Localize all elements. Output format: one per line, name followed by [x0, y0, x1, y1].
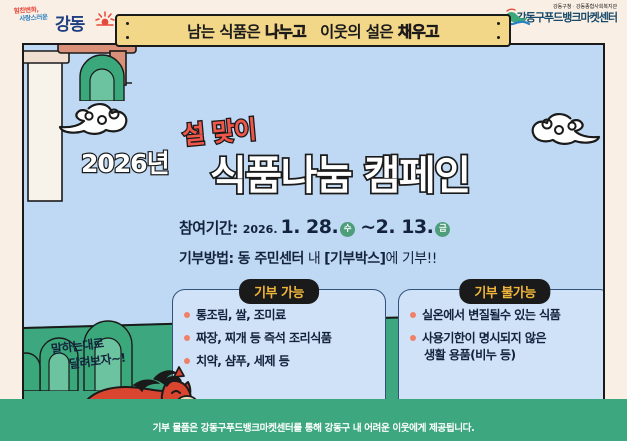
- method-tail: 에 기부: [385, 251, 426, 267]
- page-title-seasonal: 설 맞이: [181, 110, 258, 152]
- list-item: 치약, 샴푸, 세제 등: [183, 354, 377, 368]
- list-item-line1: 실온에서 변질될수 있는 식품: [422, 308, 560, 322]
- korean-cloud-icon: [58, 101, 146, 141]
- list-item: 실온에서 변질될수 있는 식품: [409, 308, 603, 322]
- period-label: 참여기간:: [179, 217, 238, 238]
- period-range-mark: ~: [360, 216, 375, 238]
- running-horse-illustration: [54, 363, 204, 399]
- korean-cloud-icon: [521, 111, 605, 151]
- footer-note: 기부 물품은 강동구푸드뱅크마켓센터를 통해 강동구 내 어려운 이웃에게 제공…: [0, 420, 627, 434]
- campaign-ribbon-banner: 남는 식품은 나누고이웃의 설은 채우고: [115, 14, 511, 47]
- period-end: 2. 13.: [376, 216, 434, 238]
- logo-slogan-line2: 사랑스러운: [19, 13, 48, 23]
- period-start: 1. 28.: [281, 216, 339, 238]
- ribbon-part2: 이웃의 설은: [320, 23, 398, 41]
- green-bush-illustration: [72, 51, 152, 101]
- sun-rays-icon: [95, 11, 115, 27]
- gangdong-district-logo: 힘찬변화, 사랑스러운 강동: [12, 4, 120, 40]
- page-title-main: 식품나눔 캠페인: [210, 143, 470, 201]
- foodbank-center-logo: 강동구청ㆍ강동종합사회복지관 강동구푸드뱅크마켓센터: [501, 3, 619, 37]
- period-year: 2026.: [243, 223, 278, 236]
- allowed-list: 통조림, 쌀, 조미료 짜장, 찌개 등 즉석 조리식품 치약, 샴푸, 세제 …: [183, 308, 377, 368]
- list-item: 짜장, 찌개 등 즉석 조리식품: [183, 331, 377, 345]
- period-end-day-badge: 금: [435, 222, 450, 237]
- status-badge-allowed: 기부 가능: [239, 279, 319, 304]
- page-title-year: 2026년: [81, 144, 169, 180]
- sky-panel: 2026년 설 맞이 식품나눔 캠페인 참여기간: 2026. 1. 28. 수…: [22, 43, 605, 399]
- ribbon-highlight2: 채우고: [398, 23, 439, 41]
- list-item-line1: 짜장, 찌개 등 즉석 조리식품: [196, 331, 331, 345]
- method-place: 동 주민센터: [238, 251, 304, 267]
- not-allowed-list: 실온에서 변질될수 있는 식품 사용기한이 명시되지 않은 생활 용품(비누 등…: [409, 308, 603, 362]
- list-item-line2: 생활 용품(비누 등): [422, 348, 603, 362]
- donation-not-allowed-box: 기부 불가능 실온에서 변질될수 있는 식품 사용기한이 명시되지 않은 생활 …: [398, 289, 605, 399]
- ribbon-highlight1: 나누고: [265, 23, 306, 41]
- logo-slogan: 힘찬변화, 사랑스러운: [13, 5, 47, 23]
- ribbon-part1: 남는 식품은: [187, 23, 265, 41]
- status-badge-not-allowed: 기부 불가능: [459, 279, 550, 304]
- ribbon-dots-left: [126, 22, 129, 39]
- logo-wordmark: 강동: [55, 10, 84, 35]
- list-item-line1: 사용기한이 명시되지 않은: [422, 331, 546, 345]
- list-item-line1: 치약, 샴푸, 세제 등: [196, 354, 289, 368]
- poster-root: 2026년 설 맞이 식품나눔 캠페인 참여기간: 2026. 1. 28. 수…: [0, 0, 627, 441]
- info-box-group: 기부 가능 통조림, 쌀, 조미료 짜장, 찌개 등 즉석 조리식품 치약, 샴…: [172, 289, 605, 399]
- method-label: 기부방법:: [179, 251, 234, 267]
- ribbon-dots-right: [497, 22, 500, 39]
- donation-allowed-box: 기부 가능 통조림, 쌀, 조미료 짜장, 찌개 등 즉석 조리식품 치약, 샴…: [172, 289, 386, 399]
- list-item: 통조림, 쌀, 조미료: [183, 308, 377, 322]
- ribbon-text: 남는 식품은 나누고이웃의 설은 채우고: [187, 20, 439, 42]
- participation-period: 참여기간: 2026. 1. 28. 수 ~ 2. 13. 금: [179, 216, 452, 239]
- list-item: 사용기한이 명시되지 않은 생활 용품(비누 등): [409, 331, 603, 362]
- donation-method: 기부방법: 동 주민센터 내 [기부박스]에 기부!!: [179, 248, 437, 268]
- period-start-day-badge: 수: [340, 222, 355, 237]
- list-item-line1: 통조림, 쌀, 조미료: [196, 308, 286, 322]
- method-box: [기부박스]: [324, 251, 385, 267]
- method-mid: 내: [308, 251, 320, 267]
- method-excl: !!: [427, 251, 437, 267]
